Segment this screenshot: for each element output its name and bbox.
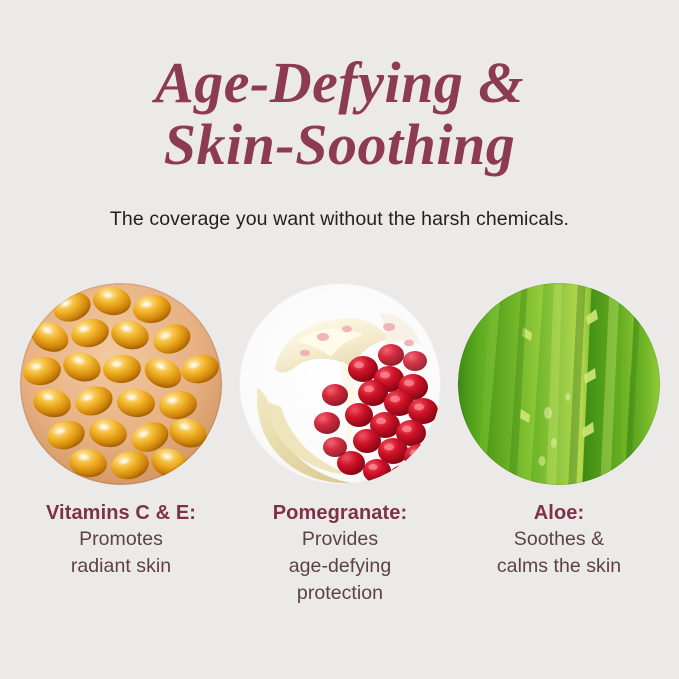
vitamin-capsules-photo: [20, 283, 222, 485]
caption-aloe: Aloe: Soothes & calms the skin: [443, 500, 675, 580]
ingredient-image-vitamins: [20, 283, 222, 485]
caption-body-line-3: protection: [224, 580, 456, 607]
headline-line-1: Age-Defying &: [0, 52, 679, 114]
page-title: Age-Defying & Skin-Soothing: [0, 52, 679, 176]
caption-body-line-1: Provides: [224, 526, 456, 553]
caption-vitamins: Vitamins C & E: Promotes radiant skin: [5, 500, 237, 580]
ingredient-caption-row: Vitamins C & E: Promotes radiant skin Po…: [0, 500, 679, 640]
caption-title-aloe: Aloe:: [443, 500, 675, 526]
aloe-vera-photo: [458, 283, 660, 485]
pomegranate-photo: [239, 283, 441, 485]
infographic-page: Age-Defying & Skin-Soothing The coverage…: [0, 0, 679, 679]
caption-title-pomegranate: Pomegranate:: [224, 500, 456, 526]
subtitle: The coverage you want without the harsh …: [0, 206, 679, 232]
ingredient-image-pomegranate: [239, 283, 441, 485]
ingredient-image-row: [0, 283, 679, 489]
caption-body-line-1: Promotes: [5, 526, 237, 553]
ingredient-image-aloe: [458, 283, 660, 485]
caption-body-line-1: Soothes &: [443, 526, 675, 553]
caption-body-line-2: age-defying: [224, 553, 456, 580]
caption-body-line-2: radiant skin: [5, 553, 237, 580]
caption-pomegranate: Pomegranate: Provides age-defying protec…: [224, 500, 456, 607]
caption-title-vitamins: Vitamins C & E:: [5, 500, 237, 526]
headline-line-2: Skin-Soothing: [0, 114, 679, 176]
caption-body-line-2: calms the skin: [443, 553, 675, 580]
